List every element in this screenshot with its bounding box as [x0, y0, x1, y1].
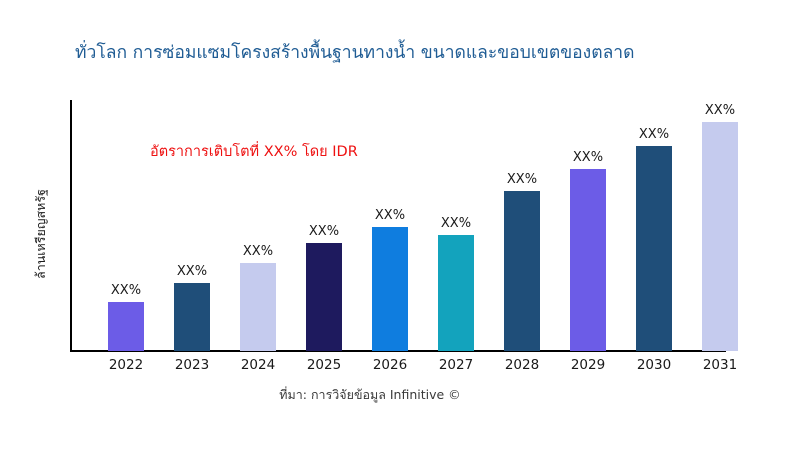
- bar-value-label-2029: XX%: [562, 150, 614, 165]
- bar-group-2030[interactable]: XX%: [636, 146, 672, 351]
- bar-group-2028[interactable]: XX%: [504, 191, 540, 351]
- x-tick-label-2028: 2028: [491, 357, 553, 373]
- x-tick-label-2023: 2023: [161, 357, 223, 373]
- bar-value-label-2022: XX%: [100, 283, 152, 298]
- bar-2027[interactable]: [438, 235, 474, 351]
- bar-group-2031[interactable]: XX%: [702, 122, 738, 351]
- bar-value-label-2023: XX%: [166, 264, 218, 279]
- bar-value-label-2031: XX%: [694, 103, 746, 118]
- bar-2028[interactable]: [504, 191, 540, 351]
- bar-group-2022[interactable]: XX%: [108, 302, 144, 351]
- bar-2023[interactable]: [174, 283, 210, 351]
- bar-group-2024[interactable]: XX%: [240, 263, 276, 351]
- bar-group-2023[interactable]: XX%: [174, 283, 210, 351]
- bar-value-label-2026: XX%: [364, 208, 416, 223]
- bar-group-2026[interactable]: XX%: [372, 227, 408, 351]
- x-tick-label-2029: 2029: [557, 357, 619, 373]
- bar-value-label-2025: XX%: [298, 224, 350, 239]
- bar-2025[interactable]: [306, 243, 342, 351]
- bar-2030[interactable]: [636, 146, 672, 351]
- bar-value-label-2028: XX%: [496, 172, 548, 187]
- x-tick-label-2026: 2026: [359, 357, 421, 373]
- bar-value-label-2027: XX%: [430, 216, 482, 231]
- source-note: ที่มา: การวิจัยข้อมูล Infinitive ©: [0, 385, 740, 405]
- bar-2024[interactable]: [240, 263, 276, 351]
- x-tick-label-2030: 2030: [623, 357, 685, 373]
- bar-group-2029[interactable]: XX%: [570, 169, 606, 351]
- bar-2031[interactable]: [702, 122, 738, 351]
- bar-value-label-2030: XX%: [628, 127, 680, 142]
- bar-2026[interactable]: [372, 227, 408, 351]
- bar-2029[interactable]: [570, 169, 606, 351]
- bar-2022[interactable]: [108, 302, 144, 351]
- bar-group-2027[interactable]: XX%: [438, 235, 474, 351]
- x-tick-label-2024: 2024: [227, 357, 289, 373]
- bars-layer: XX%2022XX%2023XX%2024XX%2025XX%2026XX%20…: [0, 0, 800, 450]
- x-tick-label-2027: 2027: [425, 357, 487, 373]
- x-tick-label-2022: 2022: [95, 357, 157, 373]
- chart-root: ทั่วโลก การซ่อมแซมโครงสร้างพื้นฐานทางน้ำ…: [0, 0, 800, 450]
- bar-value-label-2024: XX%: [232, 244, 284, 259]
- x-tick-label-2025: 2025: [293, 357, 355, 373]
- x-tick-label-2031: 2031: [689, 357, 751, 373]
- bar-group-2025[interactable]: XX%: [306, 243, 342, 351]
